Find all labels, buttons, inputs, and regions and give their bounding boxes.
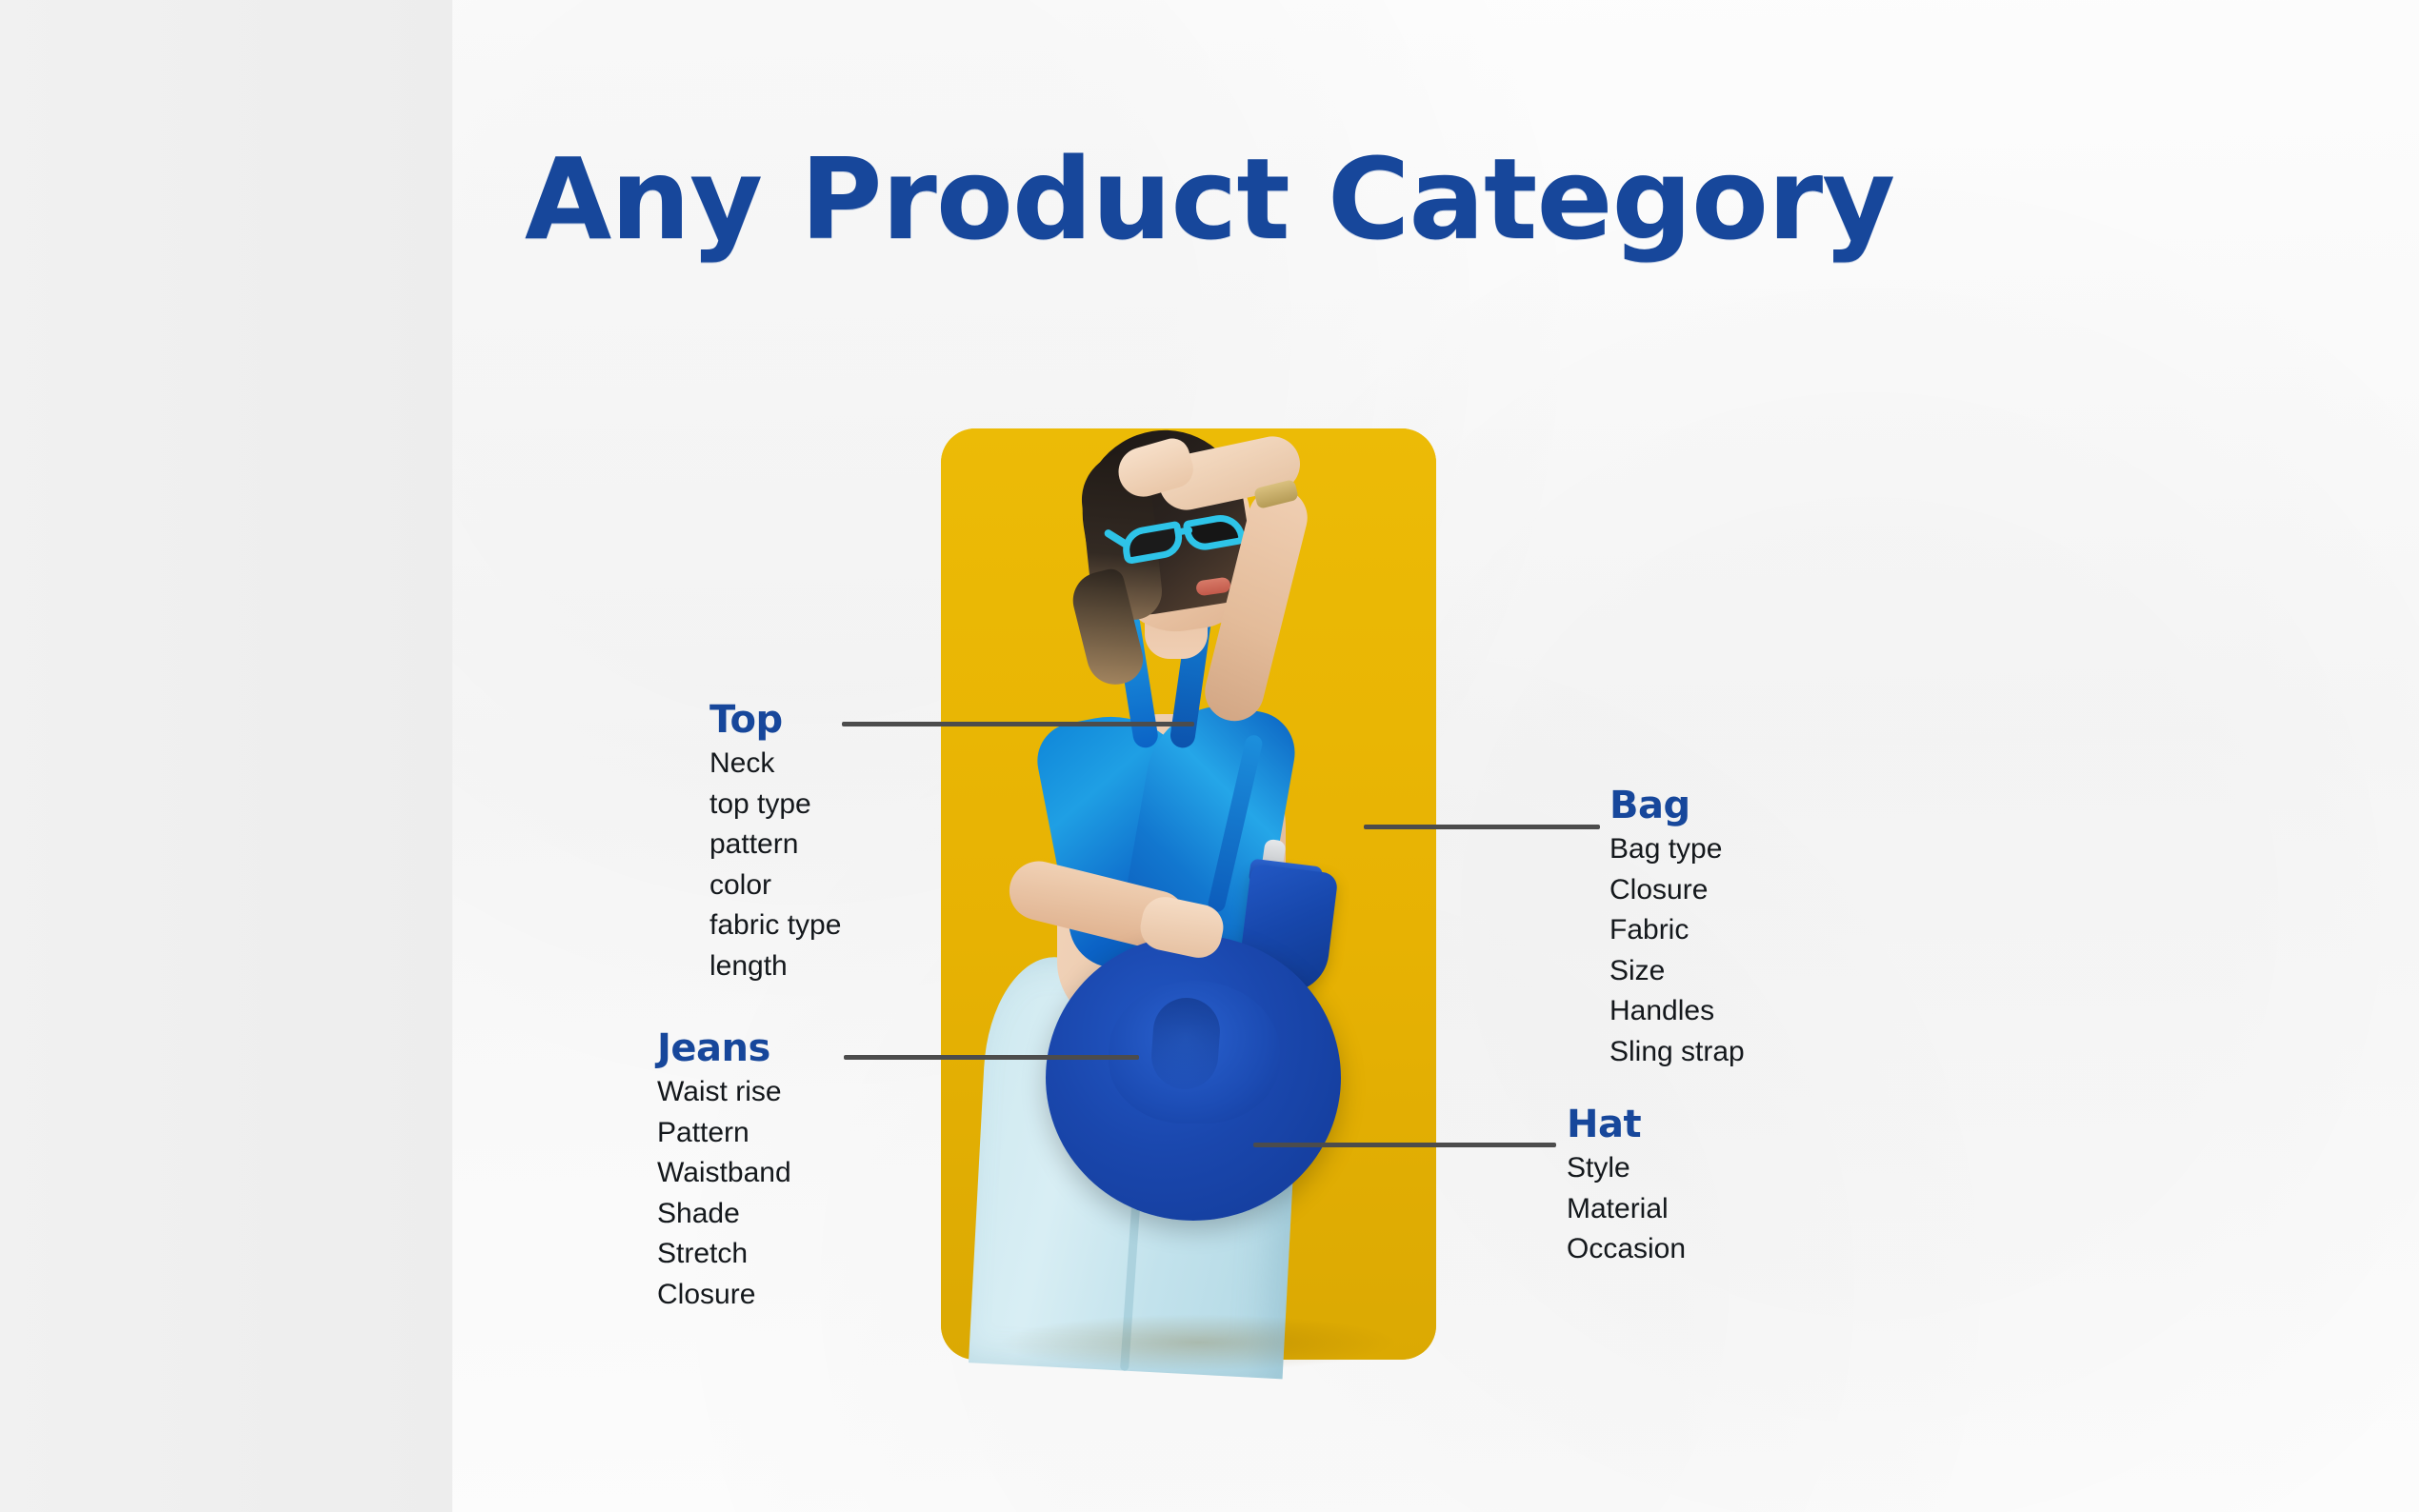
list-item: Sling strap [1609, 1032, 1745, 1073]
list-item: color [710, 865, 841, 906]
attribute-list-bag: Bag type Closure Fabric Size Handles Sli… [1609, 829, 1745, 1073]
list-item: Bag type [1609, 829, 1745, 870]
label-group-jeans: Jeans Waist rise Pattern Waistband Shade… [657, 1028, 791, 1316]
attribute-list-hat: Style Material Occasion [1567, 1148, 1686, 1270]
list-item: Stretch [657, 1234, 791, 1275]
connector-line-bag [1364, 825, 1600, 829]
list-item: Closure [657, 1275, 791, 1316]
label-group-hat: Hat Style Material Occasion [1567, 1104, 1686, 1270]
list-item: Handles [1609, 991, 1745, 1032]
floor-shadow [998, 1314, 1398, 1371]
list-item: Fabric [1609, 910, 1745, 951]
connector-line-hat [1253, 1143, 1556, 1147]
list-item: fabric type [710, 905, 841, 946]
list-item: Shade [657, 1194, 791, 1235]
list-item: Pattern [657, 1113, 791, 1154]
attribute-list-top: Neck top type pattern color fabric type … [710, 744, 841, 987]
list-item: top type [710, 785, 841, 826]
group-title-top: Top [710, 700, 841, 740]
model-photo [941, 428, 1436, 1360]
infographic-stage: Any Product Category [0, 0, 2419, 1512]
label-group-bag: Bag Bag type Closure Fabric Size Handles… [1609, 786, 1745, 1073]
list-item: Size [1609, 951, 1745, 992]
group-title-jeans: Jeans [657, 1028, 791, 1068]
list-item: pattern [710, 825, 841, 865]
list-item: Closure [1609, 870, 1745, 911]
connector-line-jeans [844, 1055, 1139, 1060]
connector-line-top [842, 722, 1194, 726]
list-item: Occasion [1567, 1229, 1686, 1270]
label-group-top: Top Neck top type pattern color fabric t… [710, 700, 841, 987]
group-title-hat: Hat [1567, 1104, 1686, 1144]
list-item: Material [1567, 1189, 1686, 1230]
list-item: Neck [710, 744, 841, 785]
list-item: Style [1567, 1148, 1686, 1189]
group-title-bag: Bag [1609, 786, 1745, 826]
page-title: Any Product Category [0, 143, 2419, 255]
list-item: length [710, 946, 841, 987]
attribute-list-jeans: Waist rise Pattern Waistband Shade Stret… [657, 1072, 791, 1316]
list-item: Waistband [657, 1153, 791, 1194]
list-item: Waist rise [657, 1072, 791, 1113]
